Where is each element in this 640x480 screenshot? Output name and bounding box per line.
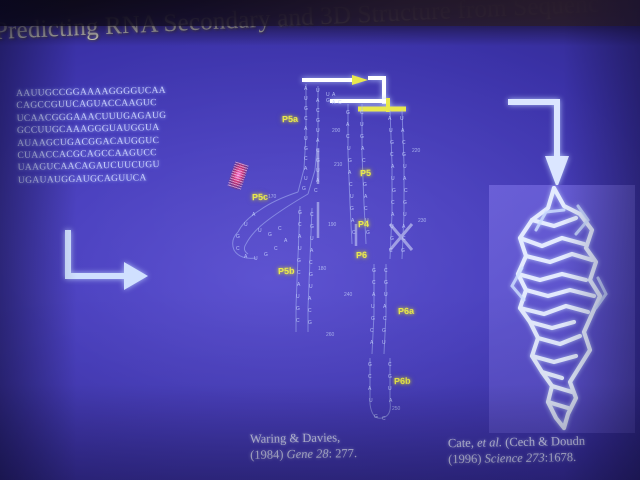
svg-text:170: 170 — [268, 194, 277, 200]
svg-text:G: G — [384, 280, 388, 286]
citation-lab: (Cech & Doudn — [502, 434, 585, 449]
svg-text:U: U — [309, 284, 313, 290]
helix-label-p6a: P6a — [398, 306, 414, 317]
citation-pages: :1678. — [545, 450, 577, 465]
svg-text:G: G — [298, 210, 302, 216]
svg-text:U: U — [304, 176, 308, 182]
svg-text:U: U — [298, 246, 302, 252]
svg-text:U: U — [296, 294, 300, 300]
svg-text:G: G — [304, 106, 308, 112]
svg-text:G: G — [296, 306, 300, 312]
citation-author: Cate, — [448, 436, 477, 451]
svg-text:260: 260 — [326, 332, 335, 338]
citation-year: (1984) — [250, 447, 287, 462]
svg-text:G: G — [388, 374, 392, 380]
svg-text:G: G — [326, 98, 330, 104]
svg-text:G: G — [390, 236, 394, 242]
svg-text:C: C — [383, 316, 387, 322]
svg-text:G: G — [374, 414, 378, 420]
svg-text:A: A — [391, 164, 395, 170]
svg-text:A: A — [372, 292, 376, 298]
svg-text:G: G — [402, 152, 406, 158]
helix-label-p5b: P5b — [278, 266, 295, 277]
svg-text:G: G — [316, 158, 320, 164]
svg-text:G: G — [309, 272, 313, 278]
helix-label-p5: P5 — [360, 168, 371, 178]
helix-label-p5a: P5a — [282, 114, 298, 125]
svg-text:U: U — [382, 340, 386, 346]
svg-text:G: G — [360, 134, 364, 140]
svg-text:G: G — [236, 234, 240, 240]
svg-text:A: A — [348, 170, 352, 176]
svg-text:C: C — [390, 152, 394, 158]
svg-text:G: G — [368, 362, 372, 368]
svg-text:C: C — [368, 374, 372, 380]
rna-3d-ribbon-structure — [492, 186, 634, 432]
helix-label-p6b: P6b — [394, 376, 411, 387]
svg-text:C: C — [391, 200, 395, 206]
sequence-line: UGAUAUGGAUGCAGUUCA — [18, 171, 208, 187]
svg-text:G: G — [348, 158, 352, 164]
nucleotide-base-letters: AUG CAU GCA UG UAC GUA CGU AC GCA UGC AU… — [222, 74, 452, 429]
svg-text:U: U — [316, 88, 320, 94]
svg-text:C: C — [236, 246, 240, 252]
svg-text:U: U — [388, 386, 392, 392]
helix-label-p4: P4 — [358, 219, 369, 229]
svg-text:G: G — [403, 200, 407, 206]
svg-text:C: C — [316, 148, 320, 154]
svg-text:C: C — [404, 188, 408, 194]
svg-text:C: C — [278, 226, 282, 232]
page-title: Predicting RNA Secondary and 3D Structur… — [0, 0, 640, 46]
svg-text:A: A — [332, 92, 336, 98]
svg-text:A: A — [389, 398, 393, 404]
svg-text:G: G — [316, 118, 320, 124]
svg-text:U: U — [304, 136, 308, 142]
svg-text:C: C — [370, 328, 374, 334]
svg-text:U: U — [400, 116, 404, 122]
svg-text:C: C — [304, 156, 308, 162]
svg-text:G: G — [390, 140, 394, 146]
svg-text:G: G — [268, 232, 272, 238]
svg-text:C: C — [298, 222, 302, 228]
svg-text:C: C — [384, 268, 388, 274]
svg-text:G: G — [297, 258, 301, 264]
svg-text:G: G — [264, 252, 268, 258]
svg-text:G: G — [366, 230, 370, 236]
svg-text:240: 240 — [344, 292, 353, 298]
svg-text:G: G — [302, 186, 306, 192]
svg-text:C: C — [364, 206, 368, 212]
citation-journal: Science 273 — [484, 451, 544, 466]
svg-text:C: C — [388, 362, 392, 368]
svg-text:A: A — [351, 218, 355, 224]
svg-text:A: A — [297, 282, 301, 288]
svg-text:A: A — [402, 224, 406, 230]
svg-text:G: G — [310, 224, 314, 230]
svg-text:C: C — [352, 230, 356, 236]
svg-text:A: A — [304, 126, 308, 132]
svg-text:200: 200 — [332, 128, 341, 134]
svg-text:A: A — [252, 212, 256, 218]
svg-text:A: A — [316, 98, 320, 104]
svg-text:C: C — [349, 182, 353, 188]
citation-line: Waring & Davies, — [250, 429, 357, 447]
sequence-to-structure-arrow — [58, 228, 153, 298]
rna-secondary-structure-diagram: AUG CAU GCA UG UAC GUA CGU AC GCA UGC AU… — [222, 74, 452, 429]
rna-sequence-listing: AAUUGCCGGAAAAGGGGUCAA CAGCCGUUCAGUACCAAG… — [16, 84, 208, 187]
svg-text:A: A — [361, 146, 365, 152]
citation-cate-et-al: Cate, et al. (Cech & Doudn (1996) Scienc… — [448, 433, 586, 467]
svg-text:C: C — [360, 110, 364, 116]
helix-label-p5c: P5c — [252, 192, 268, 203]
svg-text:A: A — [401, 128, 405, 134]
svg-text:A: A — [308, 296, 312, 302]
svg-text:C: C — [296, 318, 300, 324]
svg-text:220: 220 — [412, 148, 421, 154]
svg-text:190: 190 — [328, 222, 337, 228]
svg-text:A: A — [403, 176, 407, 182]
svg-text:A: A — [383, 304, 387, 310]
svg-text:A: A — [391, 212, 395, 218]
svg-text:C: C — [372, 280, 376, 286]
svg-text:U: U — [360, 122, 364, 128]
svg-text:250: 250 — [392, 406, 401, 412]
svg-text:U: U — [389, 128, 393, 134]
svg-text:A: A — [304, 166, 308, 172]
svg-text:C: C — [402, 140, 406, 146]
svg-text:U: U — [244, 222, 248, 228]
svg-text:U: U — [350, 194, 354, 200]
svg-text:C: C — [314, 188, 318, 194]
svg-text:G: G — [346, 110, 350, 116]
svg-text:C: C — [297, 270, 301, 276]
svg-text:G: G — [372, 268, 376, 274]
svg-text:U: U — [326, 92, 330, 98]
svg-text:C: C — [362, 158, 366, 164]
structure-to-3d-arrow — [505, 96, 577, 194]
svg-text:A: A — [346, 122, 350, 128]
svg-text:G: G — [382, 328, 386, 334]
svg-text:C: C — [304, 116, 308, 122]
svg-text:A: A — [316, 178, 320, 184]
svg-text:C: C — [346, 134, 350, 140]
svg-text:A: A — [370, 340, 374, 346]
svg-text:U: U — [384, 292, 388, 298]
svg-text:U: U — [390, 224, 394, 230]
svg-text:U: U — [258, 228, 262, 234]
svg-text:U: U — [347, 146, 351, 152]
svg-text:C: C — [402, 236, 406, 242]
svg-text:A: A — [284, 238, 288, 244]
svg-text:U: U — [316, 128, 320, 134]
svg-text:U: U — [403, 164, 407, 170]
svg-text:G: G — [371, 316, 375, 322]
svg-text:A: A — [298, 234, 302, 240]
svg-text:C: C — [308, 308, 312, 314]
svg-text:C: C — [389, 248, 393, 254]
svg-text:U: U — [369, 398, 373, 404]
svg-text:U: U — [310, 236, 314, 242]
svg-text:G: G — [363, 182, 367, 188]
svg-text:A: A — [316, 138, 320, 144]
svg-text:U: U — [304, 96, 308, 102]
svg-text:C: C — [338, 100, 342, 106]
svg-text:C: C — [310, 212, 314, 218]
svg-text:210: 210 — [334, 162, 343, 168]
svg-text:230: 230 — [418, 218, 427, 224]
citation-line: (1984) Gene 28: 277. — [250, 445, 357, 463]
svg-text:A: A — [364, 194, 368, 200]
svg-text:A: A — [332, 100, 336, 106]
svg-text:C: C — [316, 108, 320, 114]
citation-year: (1996) — [448, 452, 485, 467]
svg-text:U: U — [403, 212, 407, 218]
svg-text:U: U — [371, 304, 375, 310]
svg-text:C: C — [309, 260, 313, 266]
svg-text:C: C — [382, 416, 386, 422]
citation-etal: et al. — [477, 435, 502, 449]
svg-text:G: G — [304, 146, 308, 152]
citation-pages: : 277. — [328, 446, 357, 460]
svg-text:A: A — [388, 116, 392, 122]
citation-waring-davies: Waring & Davies, (1984) Gene 28: 277. — [250, 429, 357, 463]
presentation-slide: Predicting RNA Secondary and 3D Structur… — [0, 0, 640, 480]
svg-text:A: A — [304, 86, 308, 92]
citation-journal: Gene 28 — [286, 447, 328, 462]
svg-text:U: U — [316, 168, 320, 174]
svg-text:A: A — [368, 386, 372, 392]
svg-text:U: U — [391, 176, 395, 182]
svg-text:G: G — [308, 320, 312, 326]
svg-text:180: 180 — [318, 266, 327, 272]
svg-text:C: C — [274, 246, 278, 252]
helix-label-p6: P6 — [356, 250, 367, 260]
svg-text:U: U — [254, 256, 258, 262]
svg-text:G: G — [350, 206, 354, 212]
citation-line: (1996) Science 273:1678. — [448, 449, 585, 467]
svg-text:G: G — [401, 248, 405, 254]
svg-text:G: G — [392, 188, 396, 194]
svg-text:A: A — [310, 248, 314, 254]
svg-text:A: A — [244, 254, 248, 260]
